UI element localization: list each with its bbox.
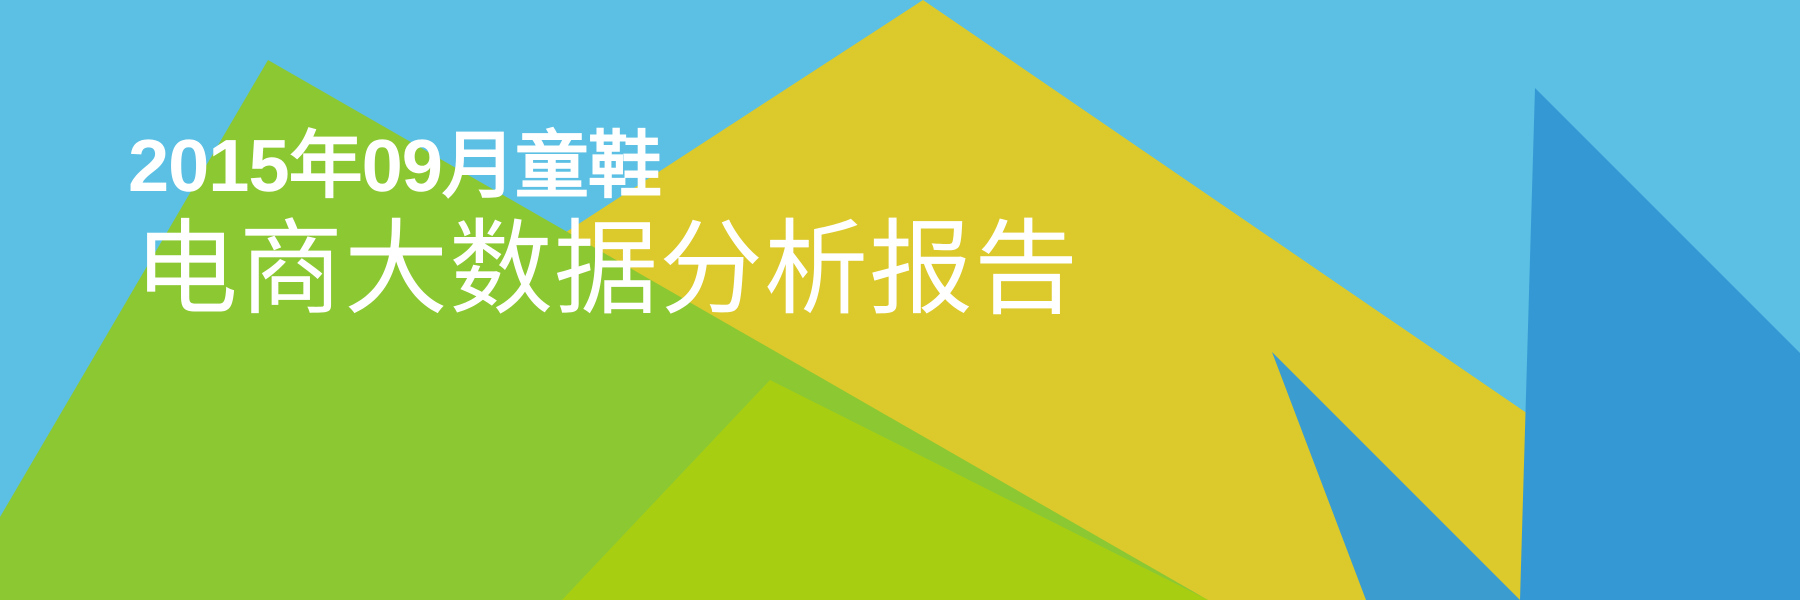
banner-hero: 2015年09月童鞋 电商大数据分析报告 (0, 0, 1800, 600)
page-title-line-2: 电商大数据分析报告 (134, 209, 1079, 332)
page-title-line-1: 2015年09月童鞋 (128, 128, 1079, 203)
banner-title-block: 2015年09月童鞋 电商大数据分析报告 (128, 128, 1079, 332)
